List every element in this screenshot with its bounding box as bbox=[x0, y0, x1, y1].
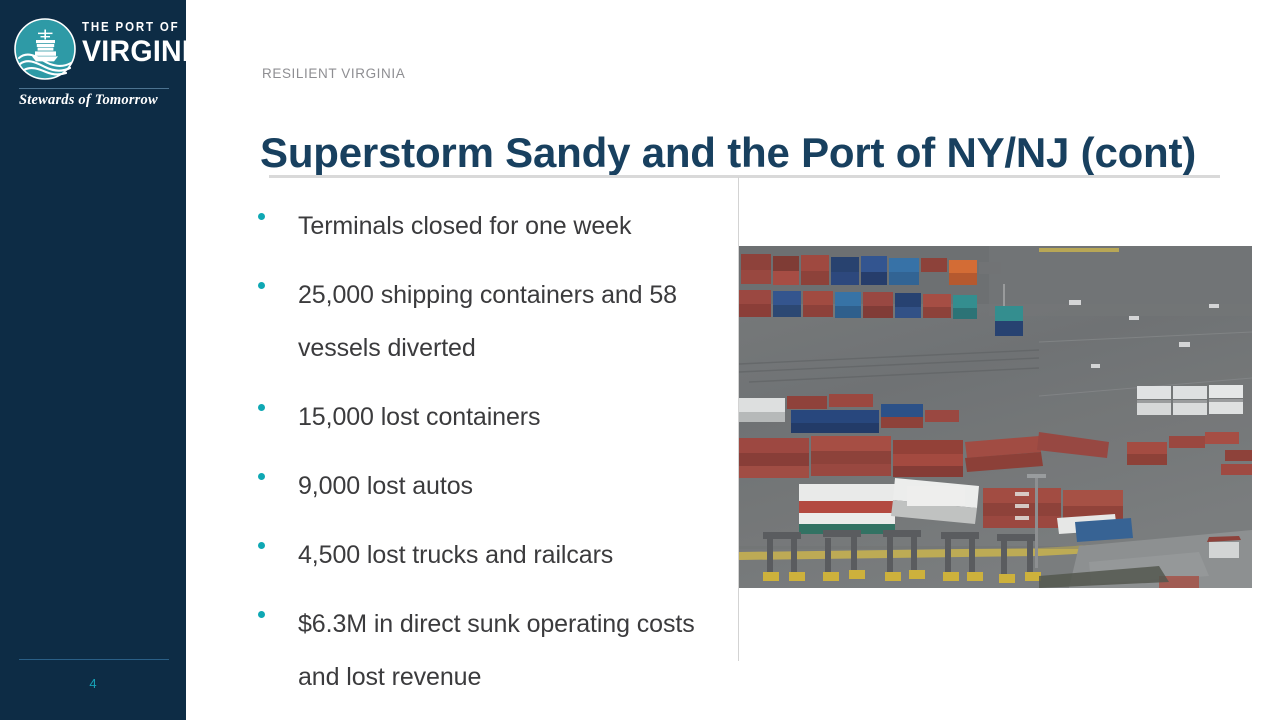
brand-tagline: Stewards of Tomorrow bbox=[19, 92, 175, 109]
slide-canvas: THE PORT OF VIRGINIA Stewards of Tomorro… bbox=[0, 0, 1280, 720]
slide-number: 4 bbox=[0, 676, 186, 691]
list-item-label: 4,500 lost trucks and railcars bbox=[298, 529, 710, 582]
list-item: 25,000 shipping containers and 58 vessel… bbox=[258, 269, 710, 375]
bullet-dot-icon bbox=[258, 282, 265, 289]
list-item: Terminals closed for one week bbox=[258, 200, 710, 253]
list-item: 15,000 lost containers bbox=[258, 391, 710, 444]
bullet-dot-icon bbox=[258, 611, 265, 618]
list-item: $6.3M in direct sunk operating costs and… bbox=[258, 598, 710, 704]
eyebrow-label: RESILIENT VIRGINIA bbox=[262, 66, 405, 81]
port-of-virginia-circular-ship-logo-icon bbox=[14, 18, 76, 80]
page-title: Superstorm Sandy and the Port of NY/NJ (… bbox=[260, 129, 1240, 177]
brand-wordmark: THE PORT OF VIRGINIA bbox=[82, 20, 178, 68]
terminal-aerial-photo bbox=[739, 246, 1252, 588]
list-item-label: 25,000 shipping containers and 58 vessel… bbox=[298, 269, 710, 375]
wordmark-top-line: THE PORT OF bbox=[82, 20, 170, 34]
sidebar: THE PORT OF VIRGINIA Stewards of Tomorro… bbox=[0, 0, 186, 720]
bullet-dot-icon bbox=[258, 542, 265, 549]
list-item-label: Terminals closed for one week bbox=[298, 200, 710, 253]
list-item: 4,500 lost trucks and railcars bbox=[258, 529, 710, 582]
sidebar-footer-divider bbox=[19, 659, 169, 660]
bullet-dot-icon bbox=[258, 473, 265, 480]
bullet-dot-icon bbox=[258, 404, 265, 411]
list-item-label: 15,000 lost containers bbox=[298, 391, 710, 444]
bullet-list: Terminals closed for one week 25,000 shi… bbox=[258, 200, 710, 720]
list-item-label: 9,000 lost autos bbox=[298, 460, 710, 513]
list-item: 9,000 lost autos bbox=[258, 460, 710, 513]
bullet-dot-icon bbox=[258, 213, 265, 220]
horizontal-divider bbox=[269, 175, 1220, 178]
brand-logo: THE PORT OF VIRGINIA bbox=[14, 18, 174, 80]
logo-divider bbox=[19, 88, 169, 89]
wordmark-main-line: VIRGINIA bbox=[82, 36, 173, 68]
list-item-label: $6.3M in direct sunk operating costs and… bbox=[298, 598, 710, 704]
